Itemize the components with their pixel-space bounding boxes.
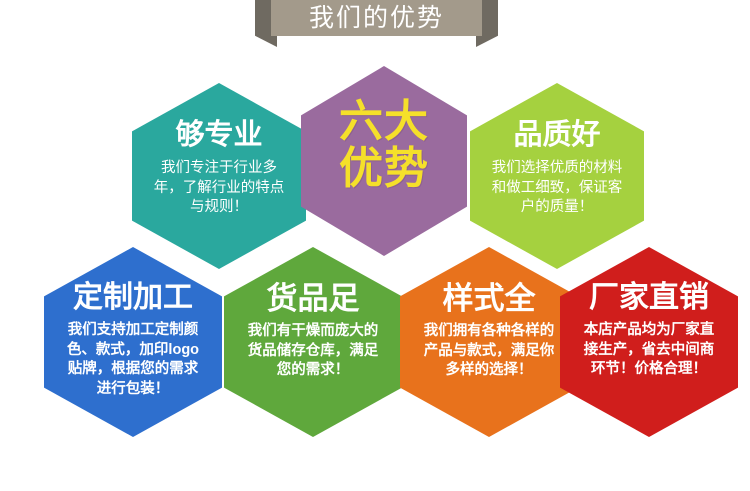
advantage-hex-zhuanye: 够专业 我们专注于行业多年，了解行业的特点与规则！ [132,83,306,269]
advantage-body: 我们选择优质的材料和做工细致，保证客户的质量！ [487,159,627,218]
header-ribbon: 我们的优势 [255,0,498,47]
advantage-title: 厂家直销 [589,283,709,313]
advantage-title: 样式全 [443,283,536,314]
advantage-body: 我们支持加工定制颜色、款式，加印logo贴牌，根据您的需求进行包装！ [61,321,205,399]
center-hex-liuda-youshi: 六大 优势 [301,66,467,256]
advantage-title: 货品足 [267,283,360,314]
advantage-title: 品质好 [513,121,600,150]
center-title-line1: 六大 [339,99,429,146]
center-title-line2: 优势 [339,146,429,193]
advantages-infographic: 我们的优势 够专业 我们专注于行业多年，了解行业的特点与规则！ 六大 优势 品质… [0,0,750,491]
advantage-hex-dingzhi: 定制加工 我们支持加工定制颜色、款式，加印logo贴牌，根据您的需求进行包装！ [44,247,222,437]
advantage-title: 定制加工 [73,283,193,313]
advantage-hex-huopin: 货品足 我们有干燥而庞大的货品储存仓库，满足您的需求！ [224,247,402,437]
advantage-hex-changjia: 厂家直销 本店产品均为厂家直接生产，省去中间商环节！价格合理！ [560,247,738,437]
advantage-body: 我们专注于行业多年，了解行业的特点与规则！ [149,159,289,218]
advantage-hex-yangshi: 样式全 我们拥有各种各样的产品与款式，满足你多样的选择！ [400,247,578,437]
advantage-body: 本店产品均为厂家直接生产，省去中间商环节！价格合理！ [577,321,721,380]
advantage-hex-pinzhi: 品质好 我们选择优质的材料和做工细致，保证客户的质量！ [470,83,644,269]
advantage-title: 够专业 [175,121,262,150]
center-title: 六大 优势 [339,99,429,192]
page-title: 我们的优势 [271,0,482,36]
advantage-body: 我们拥有各种各样的产品与款式，满足你多样的选择！ [417,322,561,381]
advantage-body: 我们有干燥而庞大的货品储存仓库，满足您的需求！ [241,322,385,381]
